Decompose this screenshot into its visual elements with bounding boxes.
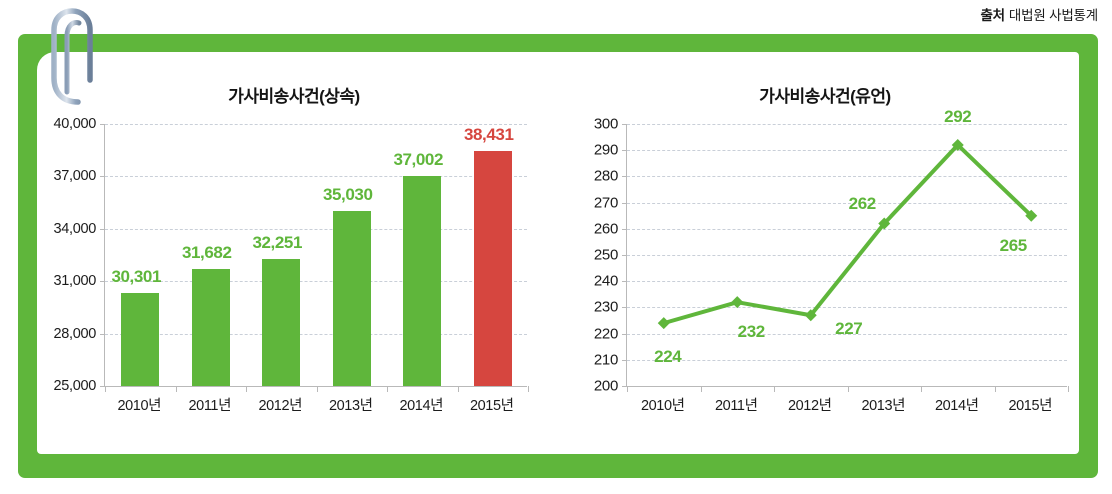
plot-area-right: 224232227262292265 xyxy=(626,124,1067,387)
data-point-value-label: 232 xyxy=(738,322,765,342)
gridline xyxy=(105,176,527,177)
x-axis-tick-label: 2011년 xyxy=(188,394,231,415)
chart-title-left: 가사비송사건(상속) xyxy=(38,56,550,106)
y-axis-tick-label: 34,000 xyxy=(53,221,96,237)
y-axis-tick-label: 220 xyxy=(594,325,618,342)
bar xyxy=(262,259,300,386)
x-axis-labels-left: 2010년2011년2012년2013년2014년2015년 xyxy=(104,394,526,418)
bar-value-label: 38,431 xyxy=(464,125,514,145)
y-axis-tick-label: 270 xyxy=(594,194,618,211)
y-axis-tick-label: 250 xyxy=(594,247,618,264)
bar xyxy=(192,269,230,386)
bar xyxy=(474,151,512,386)
x-axis-tick xyxy=(627,386,628,392)
gridline xyxy=(105,281,527,282)
bar-value-label: 35,030 xyxy=(323,185,373,205)
x-axis-tick-label: 2011년 xyxy=(715,394,758,415)
y-axis-tick-label: 40,000 xyxy=(53,116,96,132)
bar xyxy=(333,211,371,386)
chart-panel-inheritance: 가사비송사건(상속) 25,00028,00031,00034,00037,00… xyxy=(38,56,550,446)
x-axis-tick-label: 2014년 xyxy=(399,394,443,415)
y-axis-tick-label: 230 xyxy=(594,299,618,316)
x-axis-tick xyxy=(995,386,996,392)
bar xyxy=(121,293,159,386)
x-axis-tick-label: 2015년 xyxy=(1008,394,1052,415)
x-axis-tick-label: 2012년 xyxy=(258,394,302,415)
x-axis-tick xyxy=(848,386,849,392)
x-axis-tick xyxy=(701,386,702,392)
data-point-value-label: 227 xyxy=(835,319,862,339)
source-label: 출처 xyxy=(980,8,1004,23)
x-axis-tick xyxy=(1068,386,1069,392)
x-axis-tick-label: 2012년 xyxy=(788,394,832,415)
plot-wrapper-left: 25,00028,00031,00034,00037,00040,000 30,… xyxy=(38,124,550,426)
x-axis-tick-label: 2015년 xyxy=(470,394,514,415)
y-axis-tick-label: 240 xyxy=(594,273,618,290)
y-axis-labels-right: 200210220230240250260270280290300 xyxy=(560,124,626,386)
y-axis-tick-label: 210 xyxy=(594,351,618,368)
data-point-marker xyxy=(731,296,743,308)
data-point-value-label: 262 xyxy=(849,194,876,214)
x-axis-tick xyxy=(387,386,388,392)
y-axis-tick-label: 200 xyxy=(594,378,618,395)
bar xyxy=(403,176,441,386)
y-axis-tick-label: 290 xyxy=(594,142,618,159)
paperclip-icon xyxy=(40,6,102,110)
source-line: 출처대법원 사법통계 xyxy=(980,4,1098,24)
bar-value-label: 30,301 xyxy=(111,267,161,287)
x-axis-tick-label: 2014년 xyxy=(935,394,979,415)
bar-value-label: 37,002 xyxy=(393,150,443,170)
data-point-value-label: 292 xyxy=(944,107,971,127)
x-axis-tick xyxy=(317,386,318,392)
x-axis-tick-label: 2010년 xyxy=(641,394,685,415)
x-axis-tick-label: 2010년 xyxy=(117,394,161,415)
x-axis-tick xyxy=(105,386,106,392)
line-path xyxy=(664,145,1032,323)
y-axis-tick-label: 25,000 xyxy=(53,378,96,394)
x-axis-tick xyxy=(774,386,775,392)
y-axis-labels-left: 25,00028,00031,00034,00037,00040,000 xyxy=(38,124,104,386)
plot-area-left: 30,30131,68232,25135,03037,00238,431 xyxy=(104,124,527,387)
x-axis-tick xyxy=(921,386,922,392)
data-point-marker xyxy=(658,317,670,329)
y-axis-tick-label: 300 xyxy=(594,116,618,133)
x-axis-tick xyxy=(246,386,247,392)
gridline xyxy=(105,334,527,335)
data-point-value-label: 224 xyxy=(654,347,681,367)
x-axis-labels-right: 2010년2011년2012년2013년2014년2015년 xyxy=(626,394,1066,418)
plot-wrapper-right: 200210220230240250260270280290300 224232… xyxy=(560,124,1090,426)
y-axis-tick-label: 31,000 xyxy=(53,273,96,289)
x-axis-tick-label: 2013년 xyxy=(329,394,373,415)
y-axis-tick-label: 28,000 xyxy=(53,326,96,342)
chart-title-right: 가사비송사건(유언) xyxy=(560,56,1090,106)
y-axis-tick-label: 280 xyxy=(594,168,618,185)
x-axis-tick xyxy=(458,386,459,392)
data-point-value-label: 265 xyxy=(1000,236,1027,256)
y-axis-tick-label: 260 xyxy=(594,220,618,237)
source-text: 대법원 사법통계 xyxy=(1009,8,1098,23)
x-axis-tick xyxy=(528,386,529,392)
chart-panel-will: 가사비송사건(유언) 20021022023024025026027028029… xyxy=(560,56,1090,446)
y-axis-tick-label: 37,000 xyxy=(53,168,96,184)
x-axis-tick-label: 2013년 xyxy=(861,394,905,415)
bar-value-label: 32,251 xyxy=(252,233,302,253)
x-axis-tick xyxy=(176,386,177,392)
gridline xyxy=(105,229,527,230)
bar-value-label: 31,682 xyxy=(182,243,232,263)
